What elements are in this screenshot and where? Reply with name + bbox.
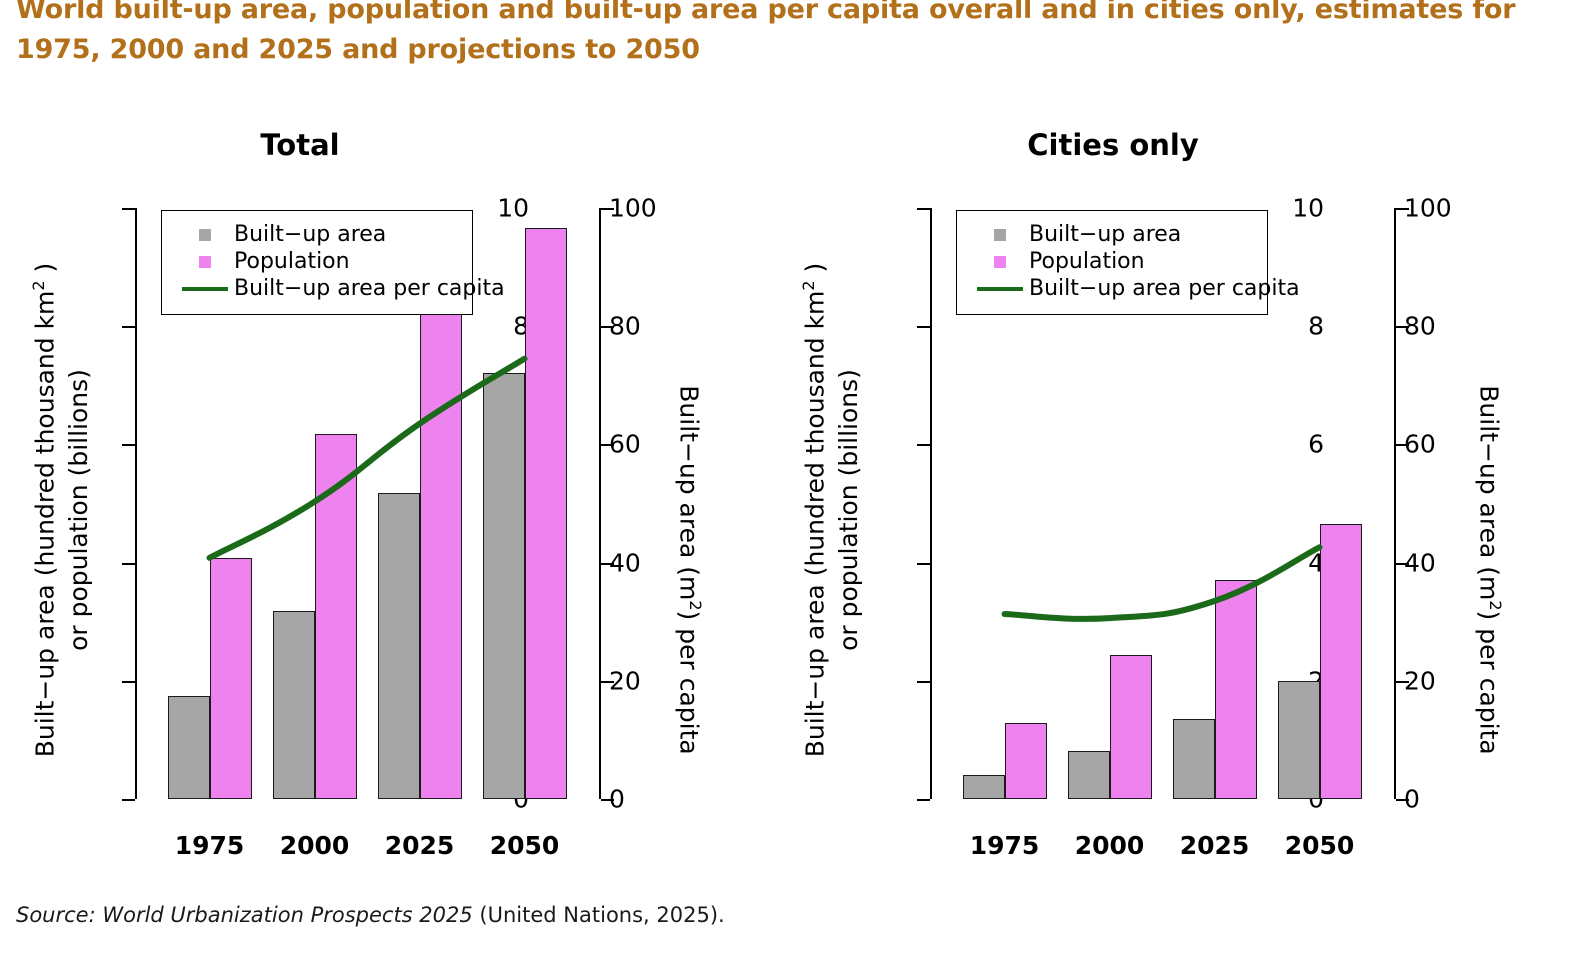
right-axis-line (1394, 208, 1396, 799)
legend-item-per-capita: Built−up area per capita (971, 275, 1251, 302)
source-italic: Source: World Urbanization Prospects 202… (16, 903, 473, 927)
x-axis-label: 2000 (280, 831, 350, 860)
x-axis-label: 1975 (175, 831, 245, 860)
y2-axis-title-a: Built−up area (m (1475, 385, 1504, 600)
x-axis-label: 2025 (385, 831, 455, 860)
y-axis-title-line2: or population (billions) (834, 369, 863, 651)
y-axis-title-line1: Built−up area (hundred thousand km (800, 291, 829, 758)
y2-axis-title-sup: 2 (1486, 600, 1505, 610)
left-axis-tick (122, 444, 135, 446)
legend-swatch-gray-icon (176, 229, 234, 241)
left-axis-tick-label: 6 (1308, 430, 1324, 459)
bar-population (1005, 723, 1047, 799)
x-axis-label: 1975 (970, 831, 1040, 860)
y2-axis-title-b: ) per capita (675, 611, 704, 755)
right-axis-tick-label: 80 (609, 312, 641, 341)
bar-population (1215, 580, 1257, 799)
bar-builtup-area (483, 373, 525, 799)
right-axis-tick-label: 80 (1404, 312, 1436, 341)
legend-swatch-pink-icon (176, 256, 234, 268)
legend-total: Built−up area Population Built−up area p… (161, 210, 473, 315)
plot-area-cities: 0246810 020406080100 1975200020252050 Bu… (952, 208, 1372, 799)
legend-label-population: Population (1029, 249, 1145, 274)
legend-line-green-icon (176, 287, 234, 291)
right-axis-tick-label: 20 (609, 666, 641, 695)
legend-label-population: Population (234, 249, 350, 274)
y-axis-title-left-total: Built−up area (hundred thousand km2 ) or… (22, 210, 96, 810)
legend-swatch-pink-icon (971, 256, 1029, 268)
left-axis-tick-label: 10 (1292, 194, 1324, 223)
legend-item-population: Population (176, 248, 456, 275)
left-axis-tick (122, 208, 135, 210)
y-axis-title-right-cities: Built−up area (m2) per capita (1472, 340, 1512, 800)
bar-builtup-area (273, 611, 315, 799)
right-axis-tick-label: 100 (1404, 194, 1452, 223)
y-axis-title-left-cities: Built−up area (hundred thousand km2 ) or… (792, 210, 866, 810)
y-axis-title-line1-end: ) (30, 263, 59, 281)
plot-area-total: 0246810 020406080100 1975200020252050 Bu… (157, 208, 577, 799)
left-axis-tick (122, 326, 135, 328)
bar-builtup-area (1173, 719, 1215, 799)
right-axis-tick-label: 0 (609, 785, 625, 814)
y-axis-title-sup: 2 (799, 280, 818, 290)
source-note: Source: World Urbanization Prospects 202… (16, 903, 725, 927)
legend-item-population: Population (971, 248, 1251, 275)
right-axis-tick-label: 40 (609, 548, 641, 577)
x-axis-label: 2000 (1075, 831, 1145, 860)
legend-item-builtup-area: Built−up area (176, 221, 456, 248)
right-axis-tick-label: 60 (1404, 430, 1436, 459)
y-axis-title-line1-end: ) (800, 263, 829, 281)
x-axis-labels-total: 1975200020252050 (157, 831, 577, 871)
y-axis-title-sup: 2 (29, 280, 48, 290)
right-axis-tick-label: 0 (1404, 785, 1420, 814)
source-plain: (United Nations, 2025). (473, 903, 725, 927)
left-axis-tick (917, 208, 930, 210)
left-axis-tick (122, 563, 135, 565)
per-capita-line-path (1005, 547, 1320, 619)
x-axis-label: 2025 (1180, 831, 1250, 860)
per-capita-line-path (210, 359, 525, 558)
left-axis-tick (122, 681, 135, 683)
y-axis-title-line1: Built−up area (hundred thousand km (30, 291, 59, 758)
bar-builtup-area (168, 696, 210, 799)
y-axis-title-line2: or population (billions) (64, 369, 93, 651)
left-axis-tick-label: 10 (497, 194, 529, 223)
left-axis-line (930, 208, 932, 799)
left-axis-tick (917, 799, 930, 801)
legend-swatch-gray-icon (971, 229, 1029, 241)
figure-title: World built-up area, population and buil… (16, 0, 1526, 70)
left-axis-tick (917, 444, 930, 446)
chart-panel-cities: Cities only Built−up area (hundred thous… (770, 110, 1560, 900)
right-axis-tick-label: 100 (609, 194, 657, 223)
right-axis-tick-label: 40 (1404, 548, 1436, 577)
left-axis-tick (122, 799, 135, 801)
bar-population (1320, 524, 1362, 799)
left-axis-tick-label: 8 (1308, 312, 1324, 341)
left-axis-line (135, 208, 137, 799)
y2-axis-title-b: ) per capita (1475, 611, 1504, 755)
chart-panel-total: Total Built−up area (hundred thousand km… (0, 110, 760, 900)
x-axis-label: 2050 (490, 831, 560, 860)
left-axis-tick (917, 563, 930, 565)
left-axis-tick (917, 681, 930, 683)
bar-builtup-area (1068, 751, 1110, 799)
y-axis-title-right-total: Built−up area (m2) per capita (672, 340, 712, 800)
bar-population (420, 311, 462, 799)
legend-item-per-capita: Built−up area per capita (176, 275, 456, 302)
panel-title-total: Total (0, 128, 680, 162)
bar-builtup-area (1278, 681, 1320, 799)
legend-label-per-capita: Built−up area per capita (234, 276, 505, 301)
bar-population (525, 228, 567, 799)
legend-label-builtup-area: Built−up area (234, 222, 386, 247)
legend-cities: Built−up area Population Built−up area p… (956, 210, 1268, 315)
right-axis-tick-label: 60 (609, 430, 641, 459)
bar-builtup-area (963, 775, 1005, 799)
y2-axis-title-sup: 2 (686, 600, 705, 610)
bar-population (210, 558, 252, 799)
legend-item-builtup-area: Built−up area (971, 221, 1251, 248)
bar-population (1110, 655, 1152, 799)
right-axis-tick-label: 20 (1404, 666, 1436, 695)
y2-axis-title-a: Built−up area (m (675, 385, 704, 600)
bar-builtup-area (378, 493, 420, 799)
legend-label-per-capita: Built−up area per capita (1029, 276, 1300, 301)
legend-line-green-icon (971, 287, 1029, 291)
x-axis-label: 2050 (1285, 831, 1355, 860)
x-axis-labels-cities: 1975200020252050 (952, 831, 1372, 871)
right-axis-line (599, 208, 601, 799)
bar-population (315, 434, 357, 799)
left-axis-tick (917, 326, 930, 328)
legend-label-builtup-area: Built−up area (1029, 222, 1181, 247)
panel-title-cities: Cities only (718, 128, 1508, 162)
